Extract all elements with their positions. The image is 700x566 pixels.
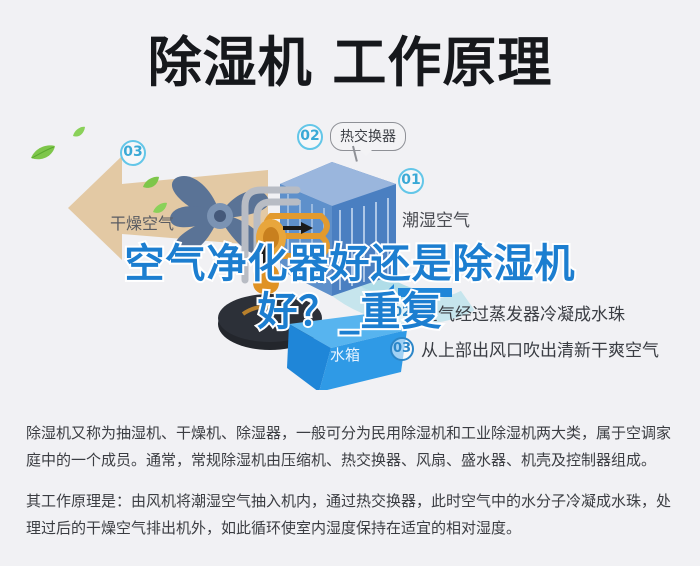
label-dry-air: 干燥空气 (110, 210, 174, 234)
diagram-step-item: 03从上部出风口吹出清新干爽空气 (390, 336, 659, 366)
body-paragraph-2: 其工作原理是：由风机将潮湿空气抽入机内，通过热交换器，此时空气中的水分子冷凝成水… (26, 488, 678, 542)
label-humid-air: 潮湿空气 (402, 206, 470, 231)
overlay-headline-line1: 空气净化器好还是除湿机 (125, 241, 576, 287)
badge-step-03-dry-air: 03 (120, 140, 146, 166)
page-title: 除湿机 工作原理 (0, 30, 700, 96)
overlay-headline: 空气净化器好还是除湿机 好？_重复 (0, 240, 700, 336)
label-water-tank: 水箱 (330, 344, 360, 365)
badge-step-02-heat-exchanger: 02 (297, 124, 323, 150)
step-text: 从上部出风口吹出清新干爽空气 (421, 336, 659, 361)
body-paragraph-1: 除湿机又称为抽湿机、干燥机、除湿器，一般可分为民用除湿机和工业除湿机两大类，属于… (26, 420, 678, 474)
heat-exchanger-callout: 热交换器 (330, 122, 406, 151)
badge-step-01-humid-air: 01 (398, 168, 424, 194)
overlay-headline-line2: 好？_重复 (0, 288, 700, 336)
article-body: 除湿机又称为抽湿机、干燥机、除湿器，一般可分为民用除湿机和工业除湿机两大类，属于… (26, 420, 678, 556)
step-number-badge: 03 (390, 337, 414, 361)
leaf-icon (30, 144, 56, 162)
page-root: 除湿机 工作原理 (0, 0, 700, 566)
leaf-icon (72, 126, 86, 138)
